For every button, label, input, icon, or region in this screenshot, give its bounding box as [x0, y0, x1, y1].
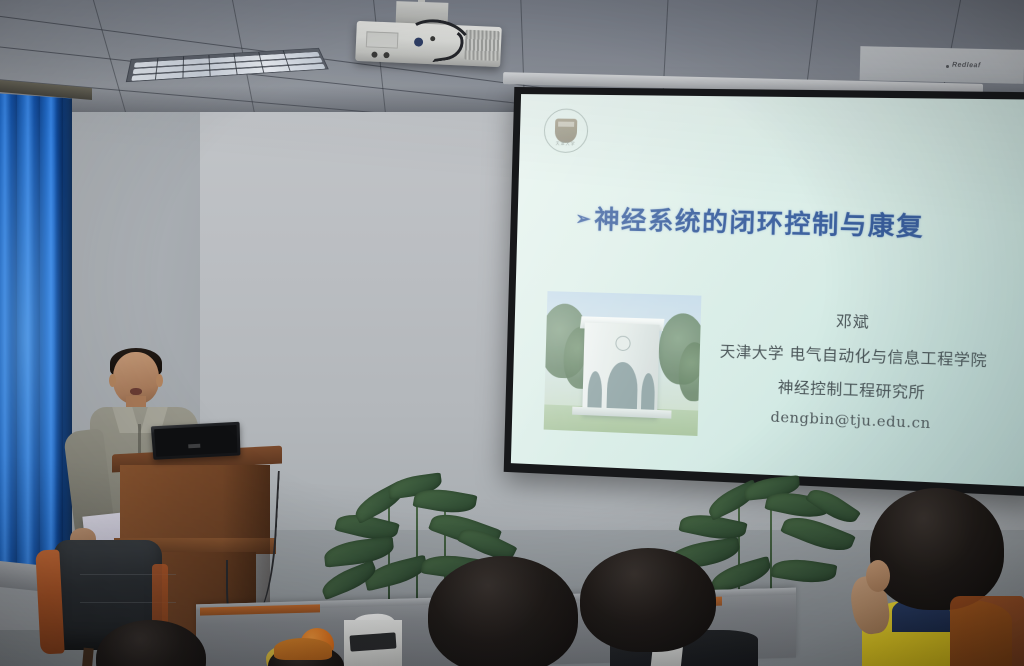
brand-mark-label: Redleaf [952, 62, 981, 70]
presenter-ear-left [109, 374, 116, 387]
slide-title-text: 神经系统的闭环控制与康复 [594, 205, 925, 242]
orange-cap-icon [274, 638, 332, 660]
chair-leg [80, 648, 93, 666]
foreground-chair-right [950, 596, 1024, 666]
audience-member-front-center [556, 548, 746, 666]
slide-title: ➢神经系统的闭环控制与康复 [575, 199, 1012, 246]
tissue-box-slot [349, 632, 396, 651]
slide-author-block: 邓斌 天津大学 电气自动化与信息工程学院 神经控制工程研究所 dengbin@t… [689, 306, 1020, 436]
window-curtain [0, 93, 72, 588]
wall-board-top-right [860, 46, 1024, 84]
audience-member-bottom-left [96, 620, 206, 666]
bullet-arrow-icon: ➢ [575, 208, 592, 230]
author-name: 邓斌 [691, 306, 1019, 338]
presenter-ear-right [156, 374, 163, 387]
presentation-slide: 天津大学 ➢神经系统的闭环控制与康复 邓斌 [511, 94, 1024, 487]
projector-panel [366, 31, 399, 48]
author-organization: 天津大学 电气自动化与信息工程学院 [690, 339, 1018, 372]
author-email: dengbin@tju.edu.cn [689, 406, 1017, 436]
presenter-mouth [130, 388, 142, 395]
presenter-laptop [151, 422, 241, 460]
lecture-room-photo: Redleaf 天津大学 ➢神经系统的闭环控制与康复 [0, 0, 1024, 666]
seal-arc-text: 天津大学 [545, 140, 587, 147]
campus-gate-photo [544, 291, 702, 436]
university-seal-icon: 天津大学 [543, 108, 588, 153]
projection-screen: 天津大学 ➢神经系统的闭环控制与康复 邓斌 [504, 87, 1024, 497]
author-lab: 神经控制工程研究所 [689, 373, 1017, 407]
audience-member-bottom-center [268, 640, 348, 666]
brand-dot-icon [946, 65, 949, 68]
audience-ear [866, 560, 890, 592]
